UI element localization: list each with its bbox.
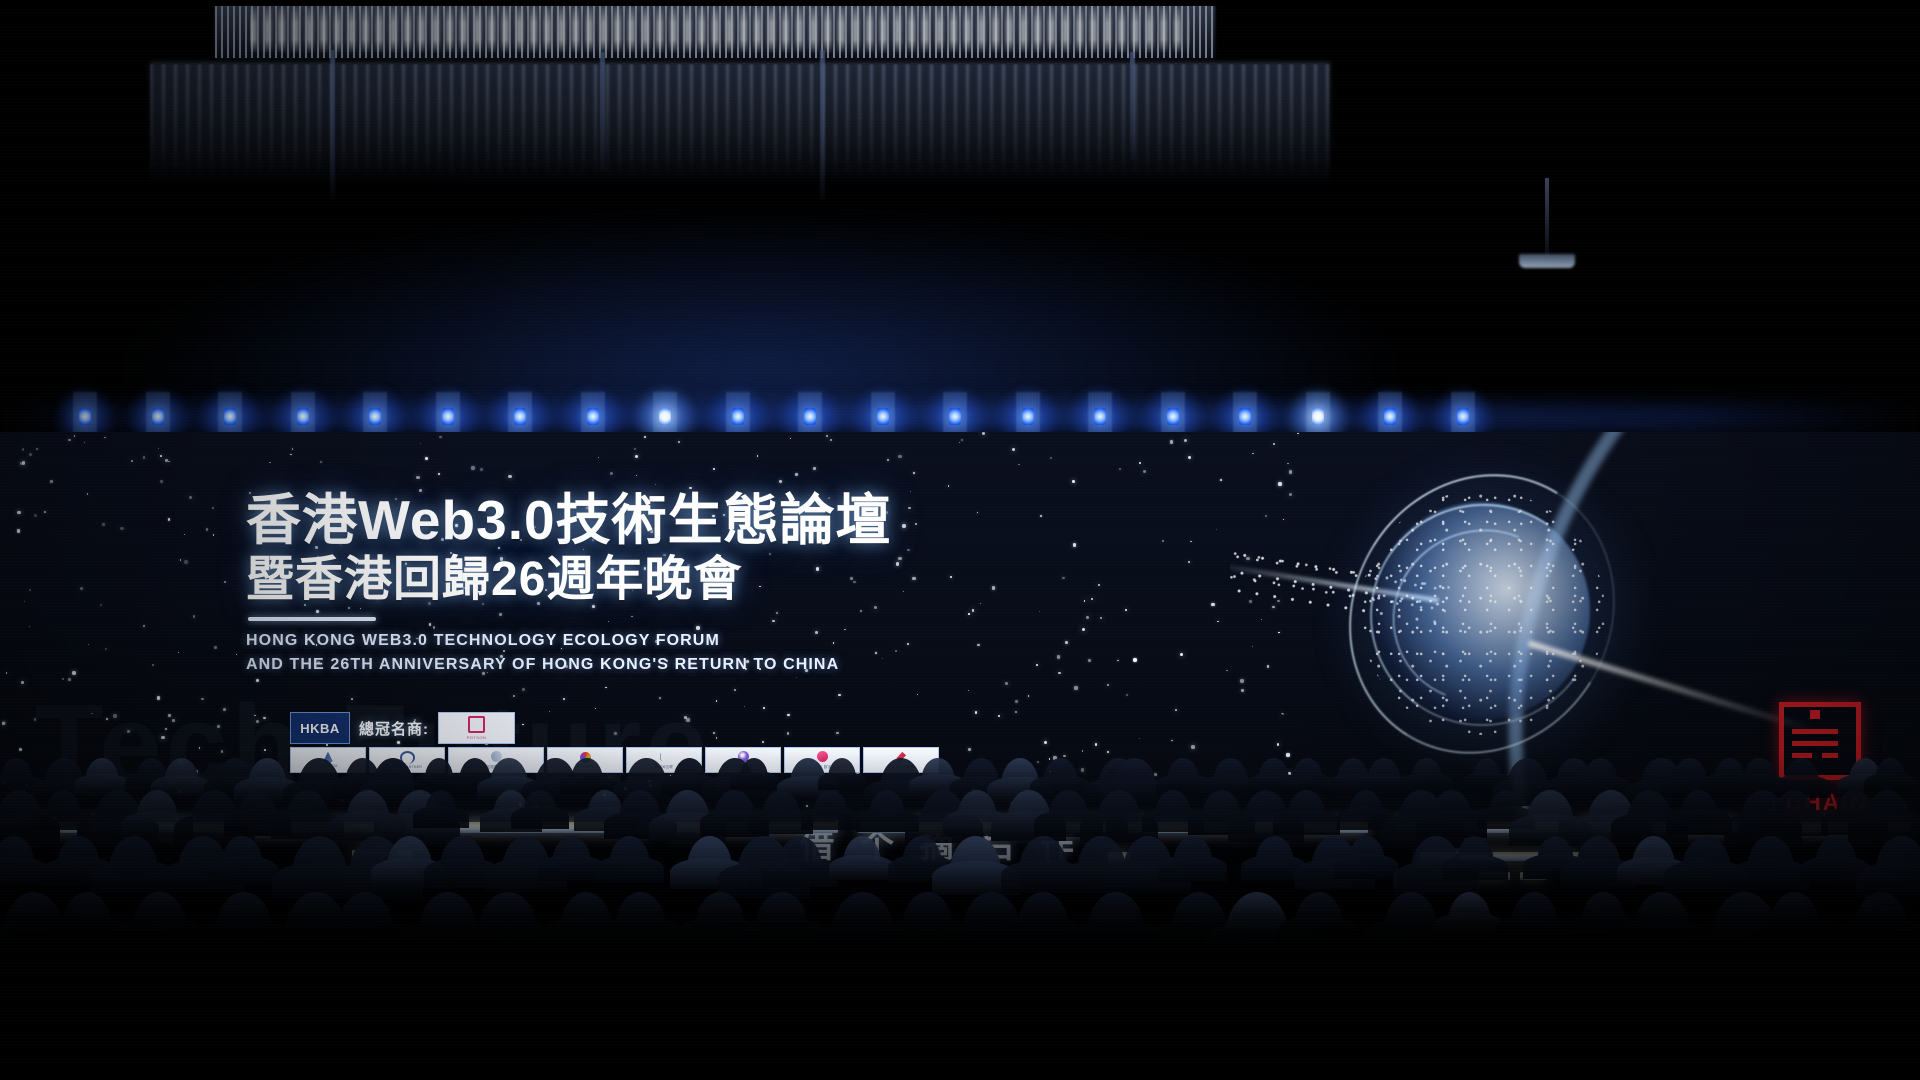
title-sponsor-name: POTSON	[467, 735, 486, 740]
hkba-label: HKBA	[300, 722, 340, 735]
spotlight-core	[152, 408, 164, 425]
star-particle	[634, 448, 636, 450]
ceiling-reflection-text	[250, 6, 1190, 54]
star-particle	[292, 448, 293, 449]
star-particle	[320, 461, 322, 463]
star-particle	[1040, 515, 1042, 517]
star-particle	[425, 457, 428, 460]
headline-line-1: 香港Web3.0技術生態論壇	[246, 492, 892, 550]
star-particle	[34, 514, 37, 517]
star-particle	[1065, 641, 1068, 644]
star-particle	[508, 475, 511, 478]
star-particle	[6, 672, 8, 674]
spotlight-icon	[362, 400, 388, 434]
star-particle	[22, 448, 25, 451]
star-particle	[236, 654, 237, 655]
spotlight-icon	[1015, 400, 1041, 434]
star-particle	[598, 457, 599, 458]
star-particle	[1091, 598, 1093, 600]
audience-dark-floor	[0, 960, 1920, 1080]
headline-line-2: 暨香港回歸26週年晚會	[246, 554, 892, 607]
spotlight-icon	[1160, 400, 1186, 434]
star-particle	[120, 527, 123, 530]
star-particle	[1015, 700, 1018, 703]
spotlight-icon	[1377, 400, 1403, 434]
star-particle	[635, 455, 638, 458]
star-particle	[212, 507, 214, 509]
star-particle	[1190, 541, 1192, 543]
hkba-association-logo: HKBA	[290, 712, 350, 744]
spotlight-icon	[217, 400, 243, 434]
spotlight-core	[877, 408, 889, 425]
star-particle	[184, 534, 185, 535]
star-particle	[896, 562, 900, 566]
star-particle	[214, 646, 217, 649]
star-particle	[968, 613, 970, 615]
spotlight-icon	[1305, 400, 1331, 434]
star-particle	[1088, 659, 1091, 662]
star-particle	[980, 603, 981, 604]
star-particle	[224, 581, 226, 583]
star-particle	[763, 707, 765, 709]
spotlight-core	[79, 408, 91, 425]
spotlight-core	[587, 408, 599, 425]
star-particle	[1015, 711, 1018, 714]
star-particle	[898, 455, 902, 459]
star-particle	[1086, 616, 1089, 619]
star-particle	[152, 664, 154, 666]
spotlight-core	[732, 408, 744, 425]
spotlight-core	[369, 408, 381, 425]
star-particle	[420, 443, 421, 444]
star-particle	[902, 524, 905, 527]
chain-seal-knob-icon	[1810, 710, 1820, 719]
star-particle	[913, 472, 915, 474]
spotlight-core	[949, 408, 961, 425]
stage-scene: Tech Future 香港Web3.0技術生態論壇 暨香港回歸26週年晚會 H…	[0, 0, 1920, 1080]
star-particle	[734, 689, 737, 692]
star-particle	[87, 493, 88, 494]
star-particle	[160, 455, 162, 457]
spotlight-core	[1167, 408, 1179, 425]
star-particle	[982, 432, 985, 435]
star-particle	[1072, 480, 1075, 483]
star-particle	[977, 644, 979, 646]
star-particle	[907, 643, 909, 645]
spotlight-icon	[652, 400, 678, 434]
star-particle	[1133, 658, 1136, 661]
star-particle	[1143, 470, 1146, 473]
headline-english-line-2: AND THE 26TH ANNIVERSARY OF HONG KONG'S …	[246, 653, 892, 677]
star-particle	[88, 644, 89, 645]
star-particle	[416, 476, 419, 479]
spotlight-icon	[435, 400, 461, 434]
spotlight-icon	[72, 400, 98, 434]
star-particle	[17, 511, 21, 515]
star-particle	[1012, 448, 1015, 451]
star-particle	[716, 700, 718, 702]
sponsor-row-primary: HKBA 總冠名商: POTSON	[290, 712, 939, 744]
star-particle	[1191, 745, 1194, 748]
spotlight-icon	[942, 400, 968, 434]
star-particle	[1180, 653, 1183, 656]
title-sponsor-logo: POTSON	[438, 712, 515, 744]
star-particle	[1126, 694, 1128, 696]
star-particle	[184, 560, 188, 564]
star-particle	[168, 518, 170, 520]
star-particle	[1044, 741, 1047, 744]
audience-head	[1815, 836, 1856, 884]
star-particle	[796, 677, 797, 678]
star-particle	[998, 715, 1000, 717]
star-particle	[1100, 617, 1102, 619]
star-particle	[1119, 468, 1121, 470]
star-particle	[1028, 695, 1030, 697]
star-particle	[1220, 479, 1222, 481]
star-particle	[915, 523, 916, 524]
star-particle	[678, 441, 680, 443]
star-particle	[72, 671, 75, 674]
star-particle	[1211, 603, 1214, 606]
star-particle	[887, 459, 889, 461]
event-headline-block: 香港Web3.0技術生態論壇 暨香港回歸26週年晚會 HONG KONG WEB…	[246, 492, 892, 677]
spotlight-core	[1094, 408, 1106, 425]
star-particle	[1039, 611, 1040, 612]
star-particle	[713, 468, 715, 470]
ceiling-glow	[0, 120, 1920, 420]
star-particle	[1226, 670, 1227, 671]
spotlight-core	[804, 408, 816, 425]
spotlight-icon	[145, 400, 171, 434]
star-particle	[644, 436, 646, 438]
star-particle	[439, 436, 441, 438]
star-particle	[917, 694, 918, 695]
star-particle	[143, 456, 146, 459]
star-particle	[36, 448, 38, 450]
star-particle	[977, 512, 978, 513]
star-particle	[1050, 457, 1052, 459]
spotlight-core	[297, 408, 309, 425]
spotlight-core	[1457, 408, 1469, 425]
audience-head	[609, 836, 650, 883]
star-particle	[438, 473, 440, 475]
star-particle	[44, 511, 46, 513]
star-particle	[1175, 709, 1177, 711]
star-particle	[1062, 577, 1065, 580]
star-particle	[907, 549, 910, 552]
star-particle	[158, 448, 159, 449]
star-particle	[20, 462, 23, 465]
chain-seal-bar-icon	[1792, 741, 1838, 746]
spotlight-core	[659, 408, 671, 425]
star-particle	[610, 472, 613, 475]
star-particle	[2, 722, 5, 725]
star-particle	[269, 462, 270, 463]
star-particle	[29, 626, 30, 627]
star-particle	[1170, 440, 1174, 444]
star-particle	[1188, 561, 1191, 564]
star-particle	[838, 694, 840, 696]
star-particle	[29, 589, 31, 591]
star-particle	[903, 591, 905, 593]
star-particle	[813, 467, 816, 470]
star-particle	[1082, 628, 1085, 631]
star-particle	[100, 604, 102, 606]
star-particle	[74, 435, 76, 437]
star-particle	[105, 648, 107, 650]
audience-head	[1747, 836, 1793, 890]
star-particle	[757, 455, 758, 456]
star-particle	[213, 534, 214, 535]
star-particle	[1005, 682, 1008, 685]
star-particle	[1084, 600, 1085, 601]
spotlight-icon	[290, 400, 316, 434]
star-particle	[68, 439, 71, 442]
star-particle	[1217, 621, 1218, 622]
star-particle	[206, 528, 209, 531]
star-particle	[830, 439, 832, 441]
star-particle	[178, 652, 179, 653]
star-particle	[131, 460, 132, 461]
star-particle	[950, 576, 952, 578]
spotlight-core	[1312, 408, 1324, 425]
star-particle	[1184, 439, 1187, 442]
headline-english-line-1: HONG KONG WEB3.0 TECHNOLOGY ECOLOGY FORU…	[246, 629, 892, 653]
star-particle	[24, 601, 25, 602]
star-particle	[1057, 655, 1061, 659]
star-particle	[1036, 664, 1038, 666]
star-particle	[1216, 529, 1217, 530]
star-particle	[1073, 543, 1077, 547]
star-particle	[910, 491, 912, 493]
star-particle	[1018, 464, 1020, 466]
star-particle	[655, 484, 656, 485]
star-particle	[480, 468, 483, 471]
star-particle	[1058, 672, 1060, 674]
headline-divider-rule	[248, 617, 376, 621]
star-particle	[168, 461, 169, 462]
star-particle	[826, 435, 828, 437]
spotlight-icon	[1087, 400, 1113, 434]
star-particle	[968, 690, 969, 691]
star-particle	[21, 681, 24, 684]
spotlight-core	[1022, 408, 1034, 425]
star-particle	[104, 437, 106, 439]
spotlight-icon	[797, 400, 823, 434]
star-particle	[961, 439, 963, 441]
star-particle	[779, 480, 782, 483]
star-particle	[1107, 684, 1109, 686]
star-particle	[1095, 743, 1098, 746]
star-particle	[975, 711, 977, 713]
star-particle	[1162, 540, 1164, 542]
spotlight-icon	[1232, 400, 1258, 434]
title-sponsor-label: 總冠名商:	[359, 718, 429, 739]
letterbox-bar-top	[0, 0, 1920, 6]
star-particle	[795, 473, 798, 476]
star-particle	[959, 442, 961, 444]
star-particle	[744, 706, 745, 707]
star-particle	[1139, 462, 1141, 464]
star-particle	[50, 480, 52, 482]
star-particle	[180, 559, 181, 560]
star-particle	[1139, 738, 1140, 739]
star-particle	[84, 442, 85, 443]
spotlight-icon	[870, 400, 896, 434]
star-particle	[189, 496, 192, 499]
star-particle	[972, 609, 975, 612]
star-particle	[17, 529, 21, 533]
star-particle	[1098, 584, 1100, 586]
star-particle	[160, 480, 163, 483]
star-particle	[29, 453, 32, 456]
star-particle	[102, 523, 105, 526]
letterbox-bar-bottom	[0, 1068, 1920, 1080]
spotlight-core	[514, 408, 526, 425]
star-particle	[1188, 456, 1191, 459]
chain-seal-bar-icon	[1792, 729, 1838, 734]
spotlight-core	[1384, 408, 1396, 425]
spotlight-core	[224, 408, 236, 425]
audience-head	[1255, 836, 1294, 881]
audience-head	[1576, 836, 1621, 888]
star-particle	[80, 587, 83, 590]
star-particle	[912, 577, 915, 580]
star-particle	[290, 454, 291, 455]
spotlight-icon	[507, 400, 533, 434]
star-particle	[1171, 740, 1173, 742]
star-particle	[895, 650, 897, 652]
spotlight-icon	[725, 400, 751, 434]
audience-silhouettes	[0, 750, 1920, 1080]
star-particle	[193, 615, 195, 617]
audience-head	[1348, 836, 1385, 879]
star-particle	[636, 475, 637, 476]
star-particle	[143, 625, 145, 627]
star-particle	[992, 586, 996, 590]
star-particle	[1117, 660, 1118, 661]
star-particle	[908, 507, 910, 509]
star-particle	[1074, 686, 1077, 689]
star-particle	[898, 557, 901, 560]
spotlight-core	[442, 408, 454, 425]
star-particle	[790, 438, 791, 439]
spotlight-icon	[580, 400, 606, 434]
star-particle	[471, 466, 474, 469]
title-sponsor-mark-icon	[468, 716, 485, 733]
spotlight-core	[1239, 408, 1251, 425]
star-particle	[948, 485, 950, 487]
star-particle	[1125, 609, 1127, 611]
spotlight-icon	[1450, 400, 1476, 434]
